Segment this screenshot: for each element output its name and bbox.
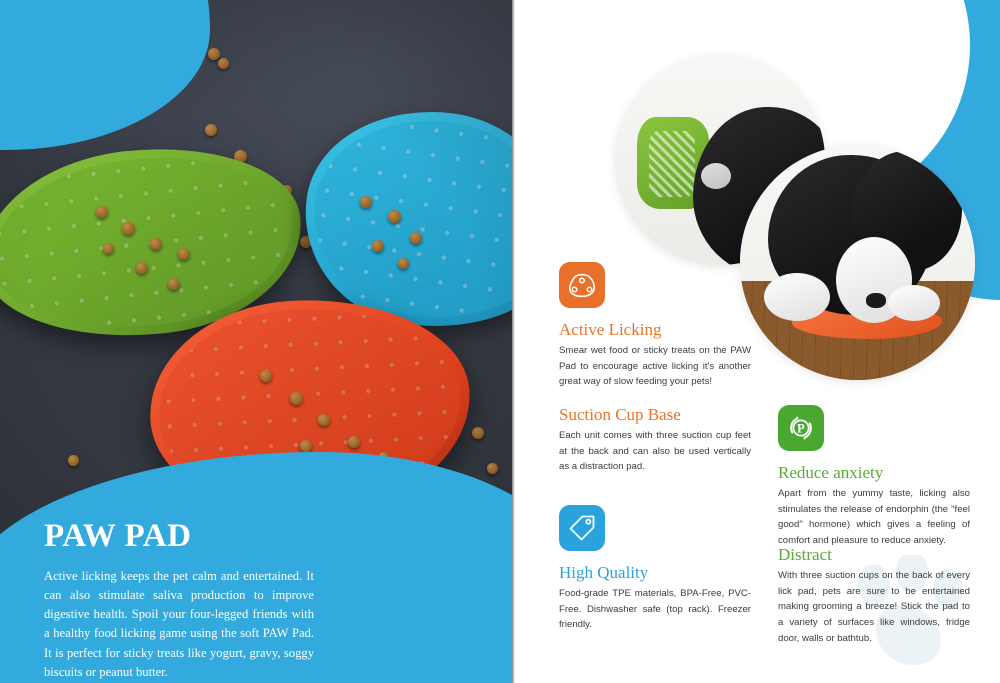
right-page-panel: Active Licking Smear wet food or sticky … xyxy=(515,0,1000,683)
feature-description: Smear wet food or sticky treats on the P… xyxy=(559,343,751,390)
dog-nose xyxy=(866,293,886,308)
feature-active-licking: Active Licking Smear wet food or sticky … xyxy=(559,262,751,390)
feature-title: High Quality xyxy=(559,563,751,583)
feature-description: Apart from the yummy taste, licking also… xyxy=(778,486,970,548)
brochure-page: PAW PAD Active licking keeps the pet cal… xyxy=(0,0,1000,683)
dog-muzzle-marking xyxy=(701,163,731,189)
smeared-treat xyxy=(649,131,695,197)
lick-pad-suction-icon xyxy=(559,262,605,308)
pet-recycle-p-glyph: P xyxy=(786,413,816,443)
feature-reduce-anxiety: P Reduce anxiety Apart from the yummy ta… xyxy=(778,405,970,549)
svg-text:P: P xyxy=(797,422,805,436)
feature-title: Reduce anxiety xyxy=(778,463,970,483)
lick-pad-suction-glyph xyxy=(567,272,597,298)
feature-distract: Distract With three suction cups on the … xyxy=(778,545,970,646)
dog-paw xyxy=(764,273,830,321)
feature-title: Active Licking xyxy=(559,320,751,340)
feature-high-quality: High Quality Food-grade TPE materials, B… xyxy=(559,505,751,633)
pet-recycle-p-icon: P xyxy=(778,405,824,451)
feature-suction-cup-base: Suction Cup Base Each unit comes with th… xyxy=(559,405,751,475)
left-page-copy: PAW PAD Active licking keeps the pet cal… xyxy=(44,520,314,682)
feature-description: Food-grade TPE materials, BPA-Free, PVC-… xyxy=(559,586,751,633)
price-tag-glyph xyxy=(568,514,596,542)
price-tag-icon xyxy=(559,505,605,551)
page-description: Active licking keeps the pet calm and en… xyxy=(44,567,314,682)
feature-description: With three suction cups on the back of e… xyxy=(778,568,970,646)
feature-title: Suction Cup Base xyxy=(559,405,751,425)
dog-paw xyxy=(888,285,940,321)
photo-dog-licking-orange-pad xyxy=(740,145,975,380)
page-title: PAW PAD xyxy=(44,520,314,553)
feature-title: Distract xyxy=(778,545,970,565)
left-page-panel: PAW PAD Active licking keeps the pet cal… xyxy=(0,0,512,683)
feature-description: Each unit comes with three suction cup f… xyxy=(559,428,751,475)
